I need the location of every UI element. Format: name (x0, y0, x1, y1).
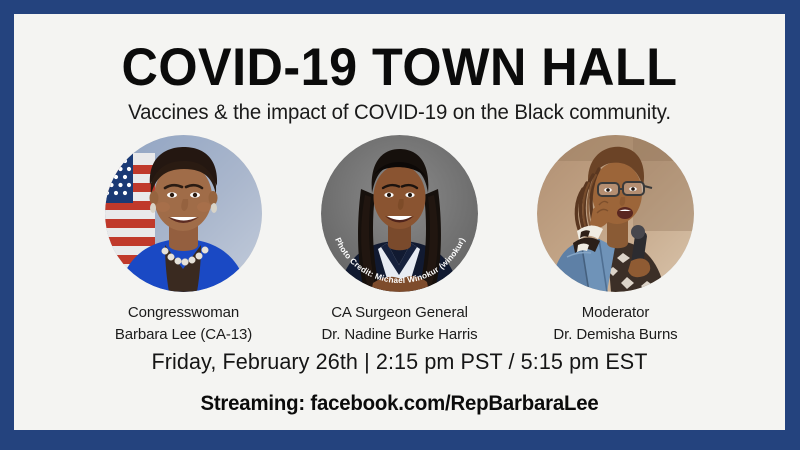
speaker-card: Congresswoman Barbara Lee (CA-13) (90, 135, 278, 346)
speaker-role: Moderator (522, 302, 710, 324)
event-datetime: Friday, February 26th | 2:15 pm PST / 5:… (22, 351, 778, 373)
speaker-list: Congresswoman Barbara Lee (CA-13) (14, 135, 785, 346)
speaker-role: CA Surgeon General (306, 302, 494, 324)
portrait-demisha-burns (537, 135, 694, 292)
speaker-name: Dr. Demisha Burns (522, 324, 710, 346)
page-subtitle: Vaccines & the impact of COVID-19 on the… (26, 102, 774, 123)
speaker-name: Dr. Nadine Burke Harris (306, 324, 494, 346)
speaker-card: Moderator Dr. Demisha Burns (522, 135, 710, 346)
flyer-canvas: COVID-19 TOWN HALL Vaccines & the impact… (14, 14, 785, 430)
speaker-caption: Moderator Dr. Demisha Burns (522, 302, 710, 346)
page-title: COVID-19 TOWN HALL (33, 41, 765, 94)
portrait-nadine-burke-harris: Photo Credit: Michael Winokur (winokur) (321, 135, 478, 292)
speaker-name: Barbara Lee (CA-13) (90, 324, 278, 346)
portrait-barbara-lee (105, 135, 262, 292)
speaker-caption: Congresswoman Barbara Lee (CA-13) (90, 302, 278, 346)
speaker-card: Photo Credit: Michael Winokur (winokur) … (306, 135, 494, 346)
streaming-link: Streaming: facebook.com/RepBarbaraLee (26, 393, 774, 414)
flyer-frame: COVID-19 TOWN HALL Vaccines & the impact… (0, 0, 800, 450)
speaker-role: Congresswoman (90, 302, 278, 324)
speaker-caption: CA Surgeon General Dr. Nadine Burke Harr… (306, 302, 494, 346)
